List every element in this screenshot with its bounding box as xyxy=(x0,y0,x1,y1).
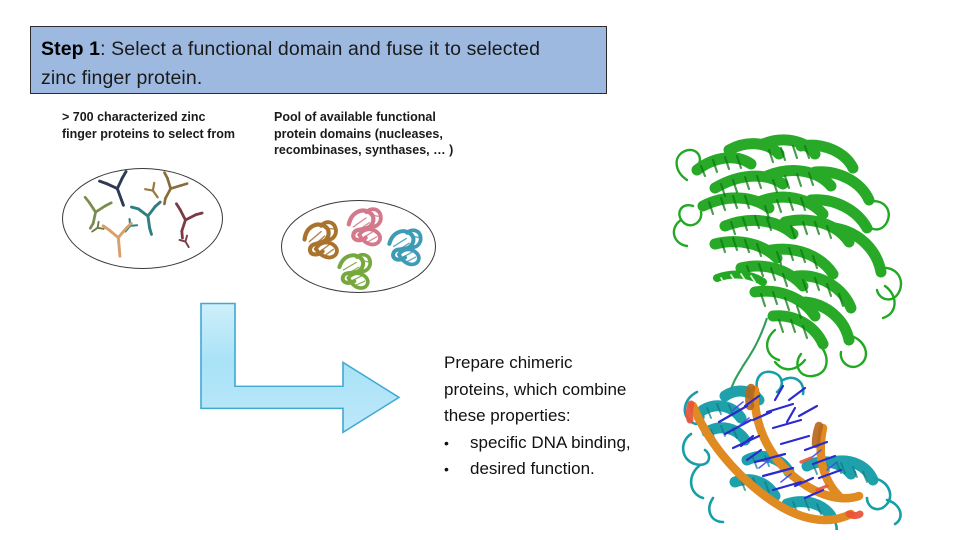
bent-arrow-shape xyxy=(193,302,413,442)
protein-glyph xyxy=(100,172,137,210)
zinc-finger-dna-complex xyxy=(683,372,900,530)
chimera-line-1: Prepare chimeric xyxy=(444,350,666,377)
bullet-icon: • xyxy=(444,456,470,483)
caption-domain-pool: Pool of available functional protein dom… xyxy=(274,109,469,159)
green-functional-domain-ribbon xyxy=(674,140,901,376)
protein-glyph xyxy=(131,202,164,236)
zinc-finger-protein-pool-ellipse xyxy=(62,168,223,269)
bullet-label: desired function. xyxy=(470,456,595,483)
domain-glyph-group xyxy=(282,201,435,292)
step-banner-line-1-rest: : Select a functional domain and fuse it… xyxy=(100,38,540,60)
domain-glyph-pink xyxy=(346,206,387,249)
domain-glyph-brown xyxy=(301,219,344,264)
functional-domain-pool-ellipse xyxy=(281,200,436,293)
protein-glyph xyxy=(103,223,134,257)
step-label: Step 1 xyxy=(41,38,100,60)
protein-glyph xyxy=(145,183,162,201)
bullet-label: specific DNA binding, xyxy=(470,430,631,457)
bent-arrow-down-right xyxy=(193,302,413,442)
protein-glyph xyxy=(167,204,202,242)
list-item: • specific DNA binding, xyxy=(444,430,666,457)
protein-glyph xyxy=(151,172,187,209)
chimera-line-3: these properties: xyxy=(444,403,666,430)
domain-glyph-green xyxy=(338,252,375,291)
chimeric-protein-structure-figure xyxy=(655,110,955,530)
chimera-line-2: proteins, which combine xyxy=(444,377,666,404)
step-banner: Step 1: Select a functional domain and f… xyxy=(30,26,607,94)
domain-glyph-blue xyxy=(387,228,426,269)
zinc-finger-glyph-group xyxy=(63,169,222,268)
step-banner-line-2: zinc finger protein. xyxy=(41,64,596,93)
step-banner-line-1: Step 1: Select a functional domain and f… xyxy=(41,35,596,64)
protein-glyph xyxy=(79,197,111,231)
caption-zinc-finger-pool: > 700 characterized zinc finger proteins… xyxy=(62,109,237,142)
structure-render xyxy=(655,110,955,530)
bullet-icon: • xyxy=(444,430,470,457)
peptide-linker xyxy=(731,318,767,390)
chimeric-protein-description: Prepare chimeric proteins, which combine… xyxy=(444,350,666,483)
list-item: • desired function. xyxy=(444,456,666,483)
